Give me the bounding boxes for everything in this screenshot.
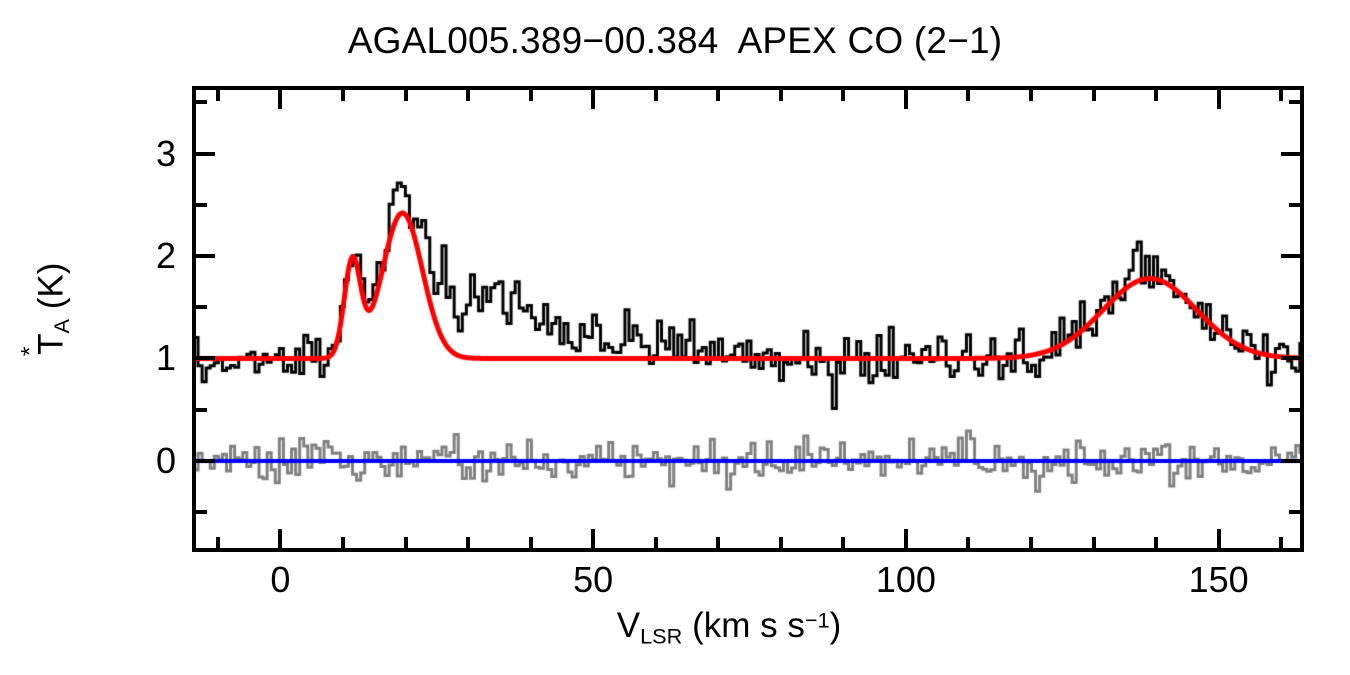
y-tick-minor [196, 100, 207, 104]
y-tick-major [196, 254, 215, 258]
x-axis-unit-close: ) [830, 606, 842, 645]
y-tick-major [196, 459, 215, 463]
x-tick-minor [216, 537, 220, 548]
x-tick-minor [1154, 537, 1158, 548]
x-tick-minor-top [1154, 90, 1158, 101]
x-axis-title: VLSR (km s s−1) [0, 606, 1350, 650]
x-tick-major-top [904, 90, 908, 109]
x-axis-symbol: V [617, 606, 640, 645]
spectrum-figure: AGAL005.389−00.384 APEX CO (2−1) 0123 05… [0, 0, 1350, 675]
x-tick-minor-top [341, 90, 345, 101]
x-tick-minor-top [216, 90, 220, 101]
y-tick-label: 1 [130, 340, 176, 376]
plot-title: AGAL005.389−00.384 APEX CO (2−1) [0, 20, 1350, 62]
y-tick-minor-right [1289, 510, 1300, 514]
x-tick-label: 50 [513, 562, 673, 598]
x-tick-major-top [591, 90, 595, 109]
x-axis-exponent: −1 [805, 607, 830, 632]
x-tick-label: 0 [200, 562, 360, 598]
x-tick-minor [404, 537, 408, 548]
x-tick-label: 150 [1139, 562, 1299, 598]
x-tick-minor-top [1279, 90, 1283, 101]
x-tick-minor [779, 537, 783, 548]
y-axis-title: T*A (K) [31, 144, 75, 474]
y-tick-minor-right [1289, 100, 1300, 104]
x-tick-minor [1279, 537, 1283, 548]
x-tick-minor [1029, 537, 1033, 548]
x-tick-major [904, 529, 908, 548]
x-tick-label: 100 [826, 562, 986, 598]
x-tick-minor-top [779, 90, 783, 101]
y-tick-major [196, 152, 215, 156]
y-tick-minor-right [1289, 408, 1300, 412]
plot-area [192, 86, 1304, 552]
y-tick-label: 3 [130, 136, 176, 172]
y-tick-minor-right [1289, 305, 1300, 309]
x-tick-minor-top [716, 90, 720, 101]
x-tick-minor-top [1029, 90, 1033, 101]
x-tick-minor [1092, 537, 1096, 548]
x-tick-minor-top [1092, 90, 1096, 101]
y-tick-minor-right [1289, 203, 1300, 207]
x-tick-minor-top [466, 90, 470, 101]
x-tick-minor [716, 537, 720, 548]
y-tick-minor [196, 408, 207, 412]
spectrum-canvas [196, 90, 1300, 548]
y-tick-major-right [1281, 254, 1300, 258]
x-tick-minor [341, 537, 345, 548]
y-tick-label: 0 [130, 443, 176, 479]
x-axis-tick-labels: 050100150 [0, 562, 1350, 612]
x-axis-unit-open: (km s [692, 606, 778, 645]
x-tick-minor [529, 537, 533, 548]
x-tick-minor [966, 537, 970, 548]
y-axis-subscript: A [49, 319, 74, 333]
y-tick-major-right [1281, 459, 1300, 463]
x-tick-minor-top [966, 90, 970, 101]
x-tick-major-top [1217, 90, 1221, 109]
x-tick-minor-top [841, 90, 845, 101]
y-tick-major-right [1281, 152, 1300, 156]
x-tick-minor-top [654, 90, 658, 101]
y-axis-star: * [16, 347, 44, 357]
y-tick-label: 2 [130, 238, 176, 274]
y-tick-minor [196, 203, 207, 207]
x-tick-minor [654, 537, 658, 548]
x-tick-major [1217, 529, 1221, 548]
x-tick-minor [841, 537, 845, 548]
y-tick-major-right [1281, 356, 1300, 360]
x-tick-major-top [278, 90, 282, 109]
x-tick-major [278, 529, 282, 548]
y-tick-minor [196, 510, 207, 514]
y-tick-major [196, 356, 215, 360]
x-axis-subscript: LSR [640, 624, 682, 649]
x-tick-minor-top [404, 90, 408, 101]
x-tick-minor-top [529, 90, 533, 101]
y-axis-unit: (K) [31, 263, 70, 310]
x-tick-minor [466, 537, 470, 548]
x-tick-major [591, 529, 595, 548]
y-tick-minor [196, 305, 207, 309]
